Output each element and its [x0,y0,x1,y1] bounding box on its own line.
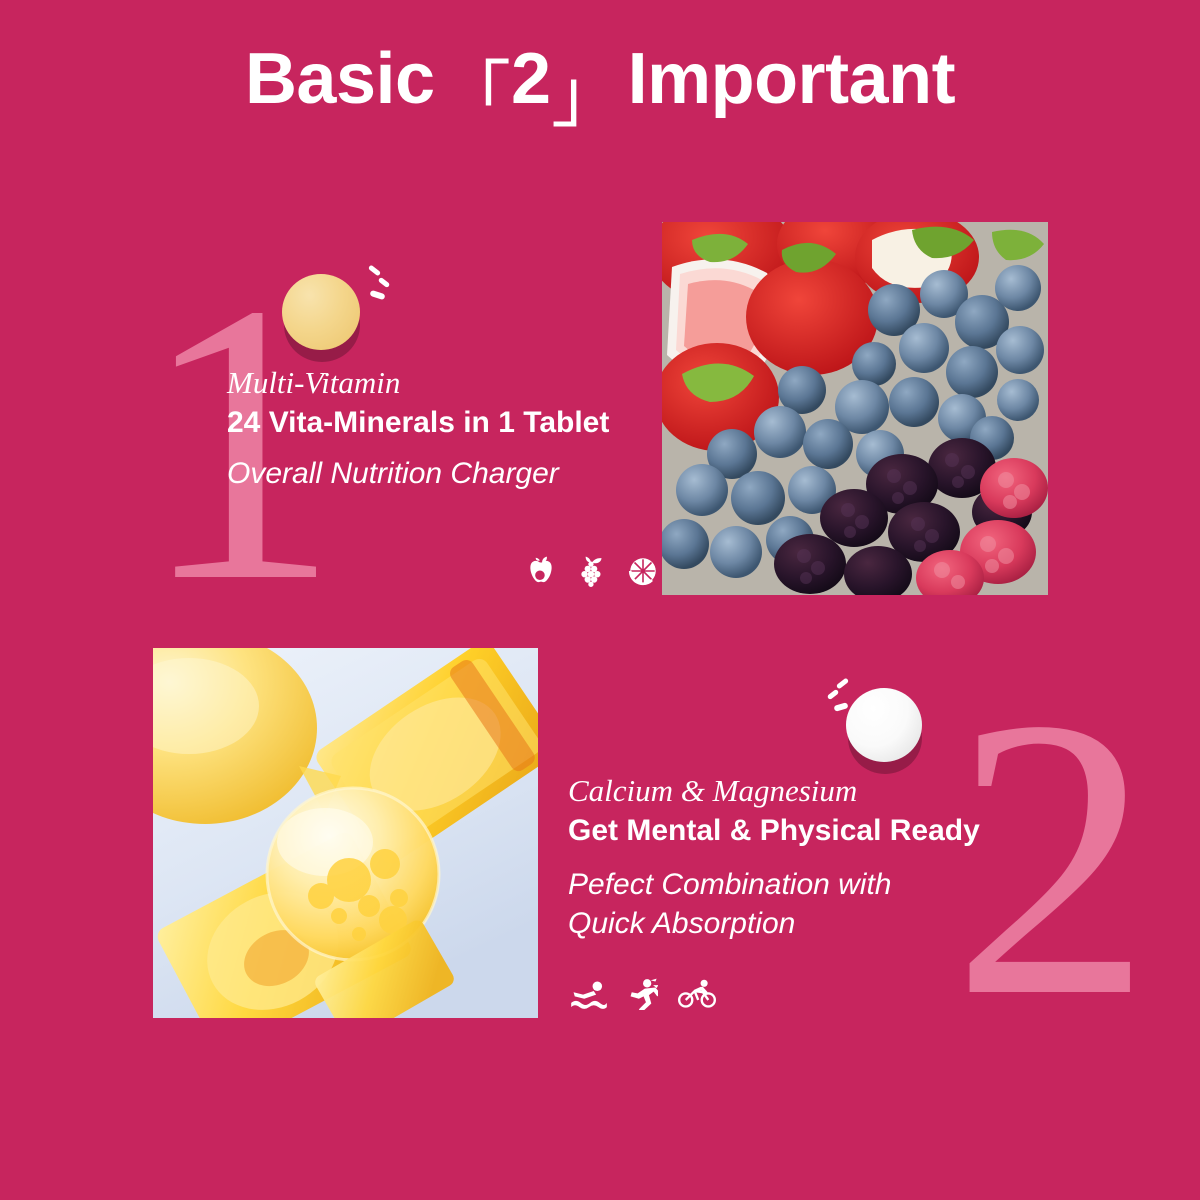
swimmer-icon [570,979,608,1009]
fruit-icon-row [524,554,660,588]
citrus-slice-icon [626,554,660,588]
background-numeral-2: 2 [952,658,1152,1058]
section-1-eyebrow: Multi-Vitamin [227,364,609,401]
sparkle-icon [826,680,856,714]
page-title: Basic 「2」 Important [0,38,1200,143]
section-1-text-block: Multi-Vitamin 24 Vita-Minerals in 1 Tabl… [227,364,609,493]
sparkle-icon [366,266,400,304]
section-2-subline-1: Pefect Combination with [568,865,980,904]
title-word-important: Important [628,38,955,120]
yellow-tablet-body [282,274,360,350]
runner-icon [628,978,658,1010]
apple-icon [524,554,558,588]
title-number: 2 [511,38,551,120]
section-2-headline: Get Mental & Physical Ready [568,809,980,853]
title-bracket-close: 」 [551,36,623,141]
section-2-text-block: Calcium & Magnesium Get Mental & Physica… [568,772,980,943]
white-tablet [828,678,948,778]
title-word-basic: Basic [245,38,435,120]
title-bracket-open: 「 [439,36,511,141]
mixed-berries-photo [662,222,1048,595]
grapes-icon [574,554,610,588]
yellow-tablet [270,262,400,362]
section-2-eyebrow: Calcium & Magnesium [568,772,980,809]
golden-capsules-photo [153,648,538,1018]
white-tablet-body [846,688,922,762]
cyclist-icon [678,979,716,1009]
section-2-subline-2: Quick Absorption [568,904,980,943]
sports-icon-row [570,978,716,1010]
section-1-subline: Overall Nutrition Charger [227,454,609,493]
section-1-headline: 24 Vita-Minerals in 1 Tablet [227,401,609,445]
